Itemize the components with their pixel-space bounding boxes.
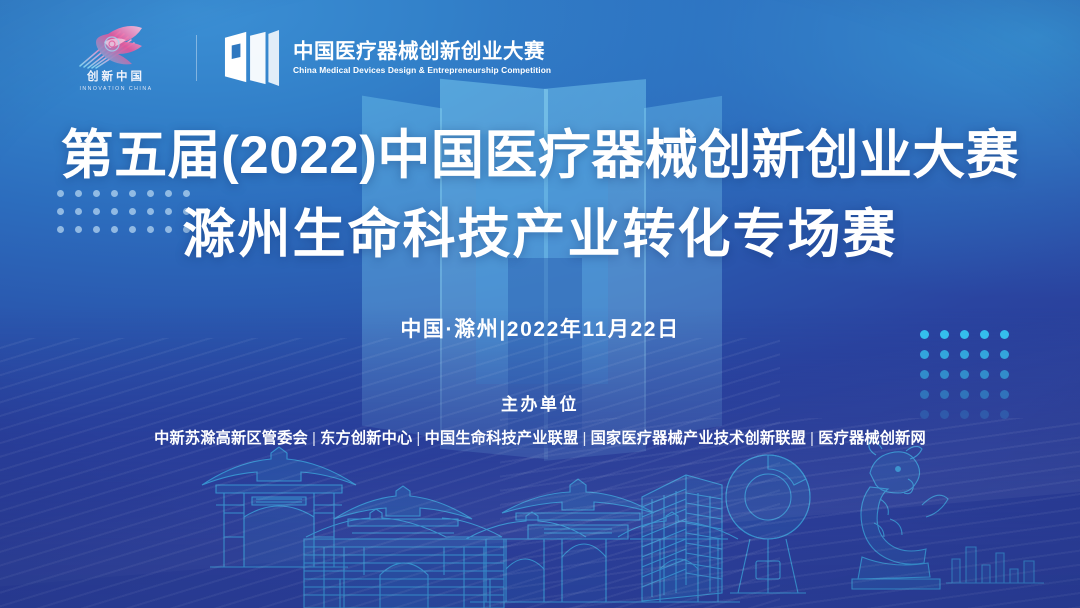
event-banner: 创新中国 INNOVATION CHINA 中国医疗器械创新创业大赛 China… (0, 0, 1080, 608)
open-door-mark-icon (223, 30, 281, 86)
cmdc-title-en: China Medical Devices Design & Entrepren… (293, 66, 551, 75)
logo-divider (196, 35, 197, 81)
page-subtitle: 滁州生命科技产业转化专场赛 (0, 192, 1080, 268)
organizer-separator: | (578, 430, 590, 447)
cmdc-title-cn: 中国医疗器械创新创业大赛 (293, 41, 551, 63)
dove-icon (70, 22, 162, 72)
innovation-china-cn: 创新中国 (62, 72, 170, 84)
organizer-name: 东方创新中心 (320, 430, 412, 447)
page-title: 第五届(2022)中国医疗器械创新创业大赛 (0, 113, 1080, 189)
organizer-name: 国家医疗器械产业技术创新联盟 (591, 430, 806, 447)
logo-bar: 创新中国 INNOVATION CHINA 中国医疗器械创新创业大赛 China… (62, 22, 551, 94)
organizers-list: 中新苏滁高新区管委会|东方创新中心|中国生命科技产业联盟|国家医疗器械产业技术创… (0, 426, 1080, 448)
innovation-china-logo: 创新中国 INNOVATION CHINA (62, 22, 170, 94)
organizer-separator: | (412, 430, 424, 447)
organizer-name: 医疗器械创新网 (818, 430, 926, 447)
cmdc-logo: 中国医疗器械创新创业大赛 China Medical Devices Desig… (223, 30, 551, 86)
organizer-name: 中新苏滁高新区管委会 (154, 430, 308, 447)
innovation-china-en: INNOVATION CHINA (62, 87, 170, 92)
organizer-name: 中国生命科技产业联盟 (425, 430, 579, 447)
organizers-label: 主办单位 (0, 390, 1080, 415)
event-location-date: 中国·滁州|2022年11月22日 (0, 313, 1080, 343)
organizer-separator: | (806, 430, 818, 447)
organizer-separator: | (308, 430, 320, 447)
